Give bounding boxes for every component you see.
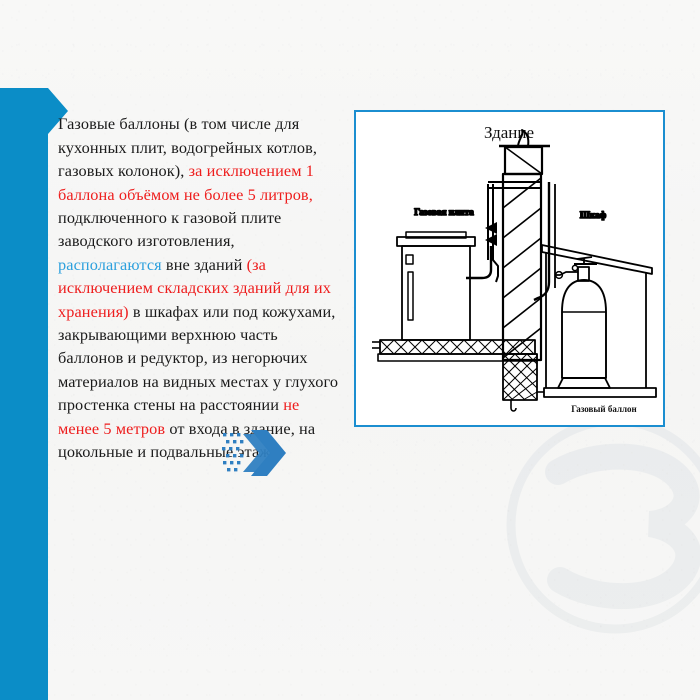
content-area: Здание — [58, 96, 670, 480]
text-run-3: подключенного к газовой плите заводского… — [58, 208, 281, 250]
diagram-figure: Здание — [354, 110, 670, 427]
diagram-label-gas-stove: Газовая плита — [414, 207, 474, 217]
diagram-label-cabinet: Шкаф — [580, 210, 607, 220]
diagram-panel: Здание — [354, 110, 665, 427]
chevron-right-arrow-icon — [221, 424, 291, 482]
diagram-label-gas-cylinder: Газовый баллон — [571, 404, 636, 414]
diagram-svg: Здание — [356, 112, 663, 425]
left-accent-bar — [0, 88, 48, 700]
text-run-5: вне зданий — [162, 255, 247, 274]
text-run-4-highlight: располагаются — [58, 255, 162, 274]
